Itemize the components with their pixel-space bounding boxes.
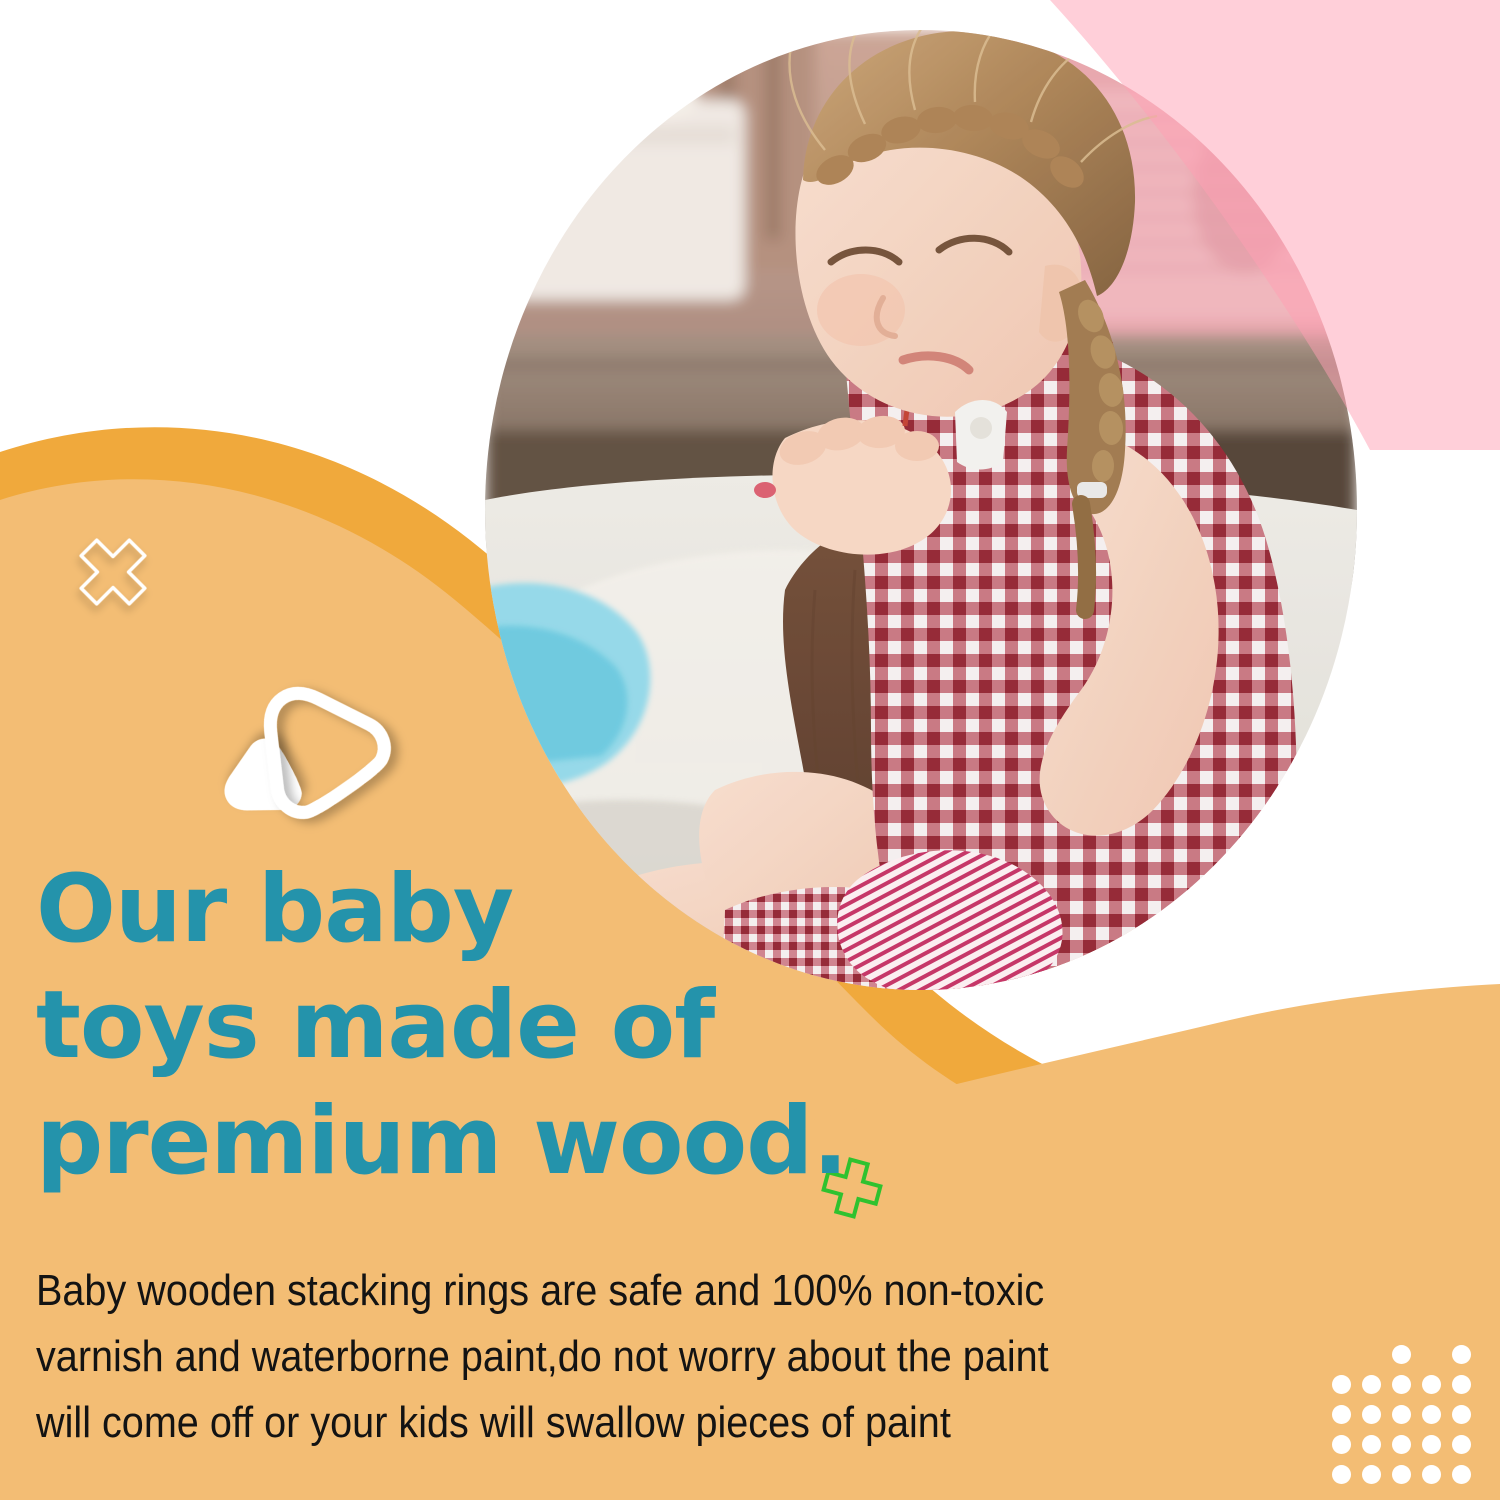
dot-grid-dot — [1392, 1465, 1411, 1484]
dot-grid-dot — [1422, 1465, 1441, 1484]
dot-grid-decor — [1326, 1340, 1476, 1490]
dot-grid-dot — [1392, 1435, 1411, 1454]
dot-grid-gap — [1422, 1345, 1441, 1364]
dot-grid-dot — [1362, 1435, 1381, 1454]
dot-grid-dot — [1422, 1435, 1441, 1454]
dot-grid-dot — [1362, 1375, 1381, 1394]
dot-grid-dot — [1332, 1375, 1351, 1394]
dot-grid-dot — [1362, 1405, 1381, 1424]
dot-grid-dot — [1392, 1375, 1411, 1394]
dot-grid-dot — [1452, 1345, 1471, 1364]
dot-grid-dot — [1452, 1375, 1471, 1394]
dot-grid-dot — [1332, 1405, 1351, 1424]
dot-grid-dot — [1422, 1405, 1441, 1424]
x-cross-outline-icon — [65, 524, 161, 620]
dot-grid-dot — [1452, 1435, 1471, 1454]
dot-grid-dot — [1452, 1465, 1471, 1484]
page-headline: Our baby toys made of premium wood. — [36, 852, 896, 1200]
promo-poster: Our baby toys made of premium wood. Baby… — [0, 0, 1500, 1500]
dot-grid-dot — [1422, 1375, 1441, 1394]
dot-grid-gap — [1332, 1345, 1351, 1364]
dot-grid-dot — [1332, 1435, 1351, 1454]
dot-grid-dot — [1392, 1345, 1411, 1364]
body-description: Baby wooden stacking rings are safe and … — [36, 1258, 1233, 1456]
dot-grid-dot — [1362, 1465, 1381, 1484]
rounded-triangle-solid-icon — [209, 732, 308, 833]
dot-grid-dot — [1452, 1405, 1471, 1424]
dot-grid-dot — [1332, 1465, 1351, 1484]
dot-grid-gap — [1362, 1345, 1381, 1364]
dot-grid-dot — [1392, 1405, 1411, 1424]
